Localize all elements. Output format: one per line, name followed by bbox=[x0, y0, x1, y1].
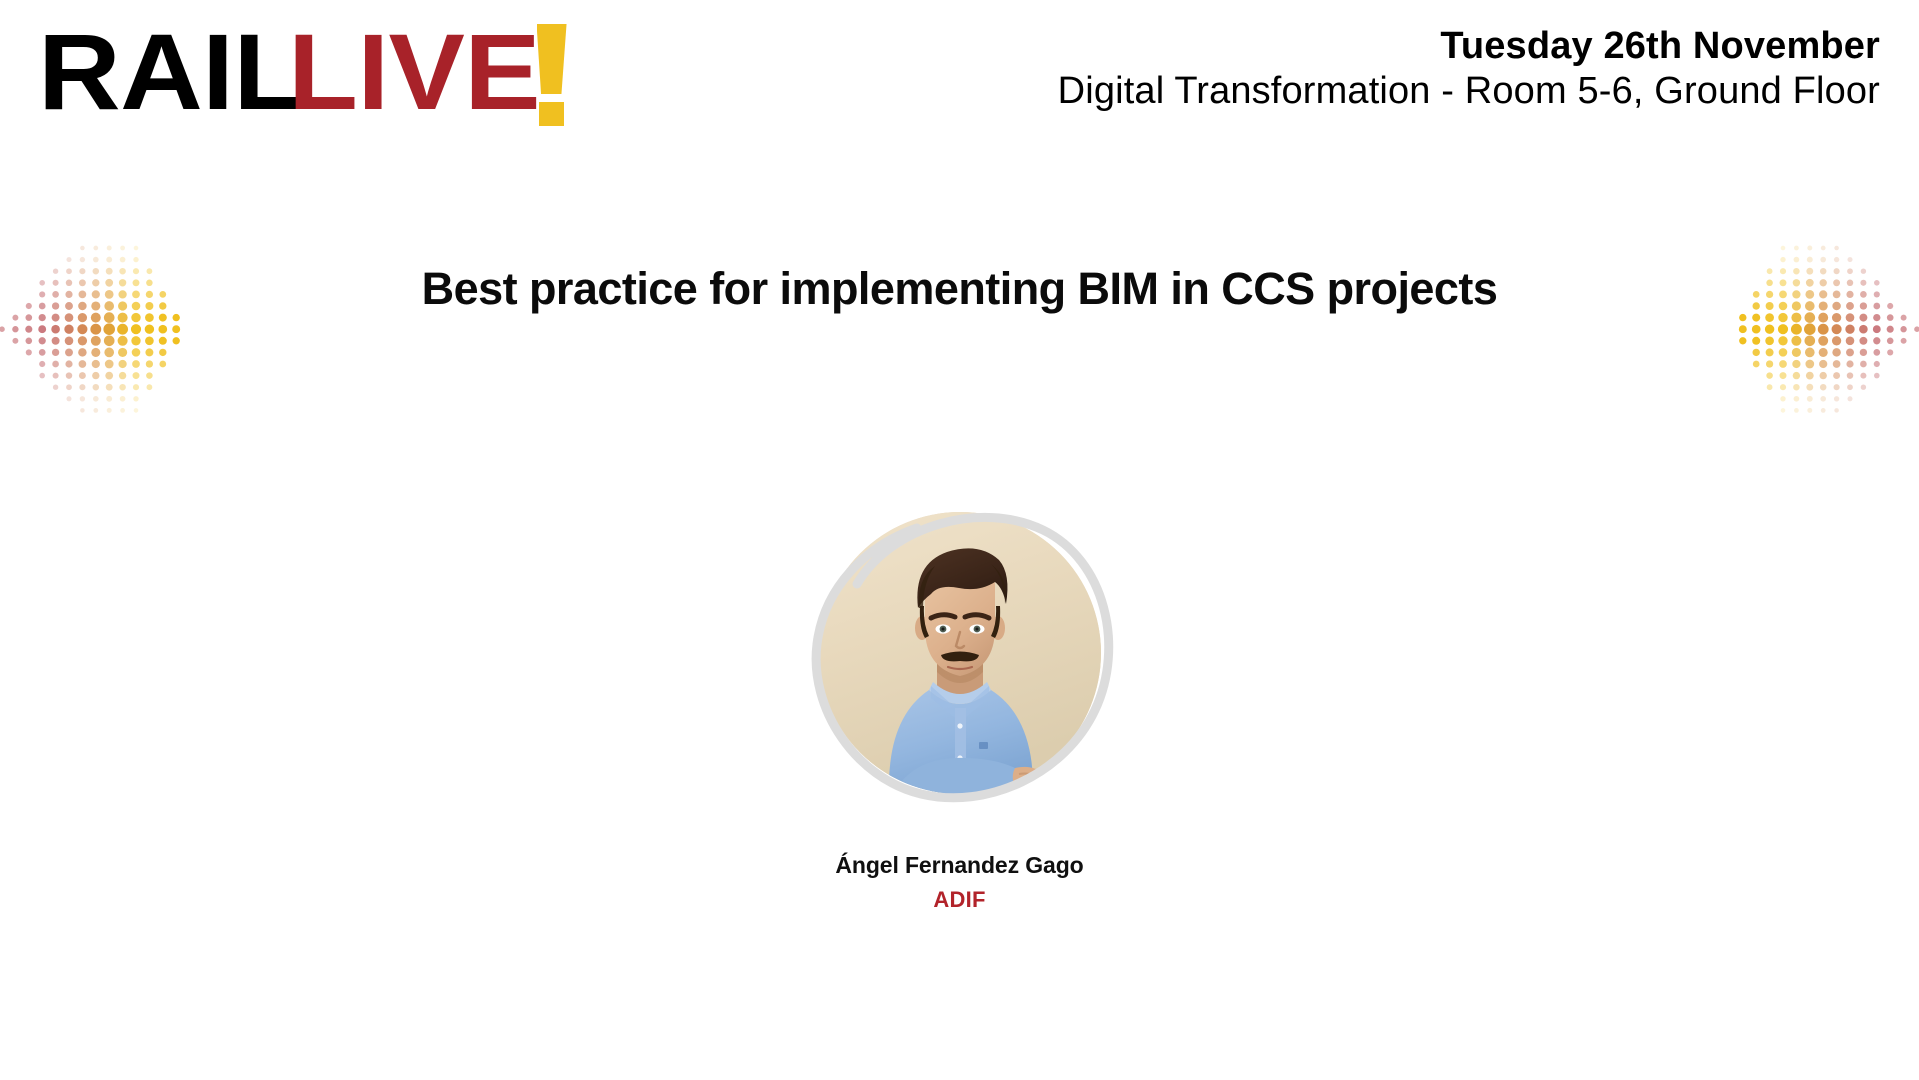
title-block: Best practice for implementing BIM in CC… bbox=[320, 262, 1600, 317]
logo-text-live: LIVE bbox=[288, 22, 540, 121]
logo-text-rail: RAIL bbox=[38, 22, 303, 121]
speaker-name: Ángel Fernandez Gago bbox=[610, 851, 1310, 881]
session-date: Tuesday 26th November bbox=[1058, 24, 1880, 69]
speaker-photo bbox=[819, 512, 1101, 794]
logo-exclamation-stem bbox=[537, 24, 567, 94]
page-title: Best practice for implementing BIM in CC… bbox=[320, 262, 1600, 317]
halftone-chevron-left-icon bbox=[1731, 243, 1919, 418]
avatar bbox=[795, 488, 1125, 818]
speaker-block: Ángel Fernandez Gago ADIF bbox=[610, 488, 1310, 914]
header-meta: Tuesday 26th November Digital Transforma… bbox=[1058, 24, 1880, 114]
rail-live-logo: RAIL LIVE bbox=[38, 22, 567, 124]
session-slide: RAIL LIVE Tuesday 26th November Digital … bbox=[0, 0, 1919, 1080]
session-location: Digital Transformation - Room 5-6, Groun… bbox=[1058, 69, 1880, 114]
slide-header: RAIL LIVE Tuesday 26th November Digital … bbox=[0, 0, 1919, 160]
halftone-chevron-right-icon bbox=[0, 243, 188, 418]
logo-exclamation-dot bbox=[539, 102, 564, 126]
speaker-organisation: ADIF bbox=[610, 886, 1310, 915]
logo-exclamation-icon bbox=[537, 24, 567, 124]
